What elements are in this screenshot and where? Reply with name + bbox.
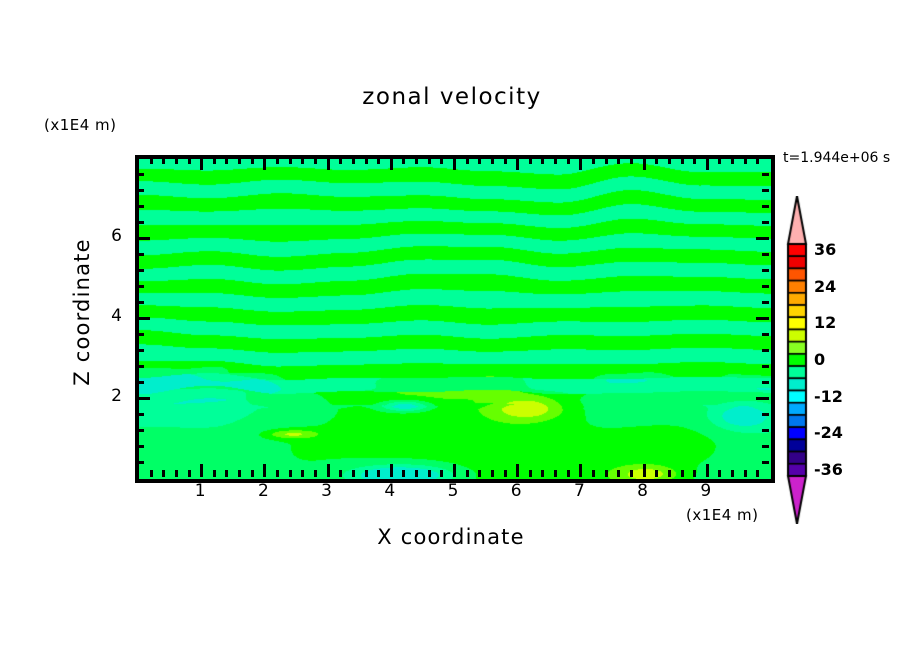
x-minor-tick [630, 470, 633, 477]
y-tick-label: 4 [96, 306, 122, 326]
x-major-tick [200, 464, 203, 477]
x-minor-tick-top [276, 157, 279, 164]
z-minor-tick-right [762, 301, 769, 304]
x-minor-tick-top [630, 157, 633, 164]
z-major-tick [137, 397, 150, 400]
z-minor-tick-right [762, 173, 769, 176]
x-minor-tick-top [605, 157, 608, 164]
x-minor-tick [339, 470, 342, 477]
x-minor-tick-top [188, 157, 191, 164]
y-axis-title: Z coordinate [70, 192, 94, 432]
x-minor-tick [554, 470, 557, 477]
x-minor-tick-top [251, 157, 254, 164]
x-axis-title: X coordinate [135, 525, 767, 549]
z-minor-tick [137, 205, 144, 208]
plot-area [135, 155, 775, 483]
x-tick-label: 5 [441, 481, 465, 501]
z-minor-tick-right [762, 253, 769, 256]
x-minor-tick [756, 470, 759, 477]
x-minor-tick [681, 470, 684, 477]
z-minor-tick-right [762, 349, 769, 352]
x-minor-tick [162, 470, 165, 477]
x-minor-tick [352, 470, 355, 477]
z-major-tick-right [756, 397, 769, 400]
z-minor-tick-right [762, 445, 769, 448]
x-minor-tick-top [238, 157, 241, 164]
x-minor-tick [175, 470, 178, 477]
colorbar-tick-label: -36 [814, 460, 843, 479]
x-major-tick [579, 464, 582, 477]
x-minor-tick-top [541, 157, 544, 164]
x-minor-tick [504, 470, 507, 477]
z-major-tick [137, 317, 150, 320]
z-minor-tick-right [762, 269, 769, 272]
z-major-tick-right [756, 237, 769, 240]
x-minor-tick [301, 470, 304, 477]
z-minor-tick-right [762, 221, 769, 224]
x-minor-tick [655, 470, 658, 477]
x-minor-tick-top [567, 157, 570, 164]
x-minor-tick [377, 470, 380, 477]
z-minor-tick-right [762, 413, 769, 416]
x-major-tick [453, 464, 456, 477]
x-major-tick-top [453, 157, 456, 170]
x-minor-tick-top [289, 157, 292, 164]
x-major-tick-top [516, 157, 519, 170]
x-minor-tick-top [592, 157, 595, 164]
x-major-tick-top [643, 157, 646, 170]
x-minor-tick-top [718, 157, 721, 164]
z-minor-tick [137, 333, 144, 336]
x-minor-tick [150, 470, 153, 477]
y-tick-label: 2 [96, 386, 122, 406]
x-minor-tick [225, 470, 228, 477]
x-tick-label: 1 [188, 481, 212, 501]
x-minor-tick-top [655, 157, 658, 164]
x-minor-tick-top [731, 157, 734, 164]
time-annotation: t=1.944e+06 s [783, 150, 890, 166]
x-minor-tick [440, 470, 443, 477]
x-tick-label: 7 [567, 481, 591, 501]
x-tick-label: 2 [251, 481, 275, 501]
z-minor-tick [137, 461, 144, 464]
x-minor-tick [289, 470, 292, 477]
colorbar-tick-label: 12 [814, 313, 836, 332]
figure-root: zonal velocity (x1E4 m) (x1E4 m) t=1.944… [0, 0, 904, 654]
x-minor-tick [402, 470, 405, 477]
colorbar [786, 196, 808, 524]
x-minor-tick-top [681, 157, 684, 164]
x-minor-tick [466, 470, 469, 477]
z-minor-tick-right [762, 429, 769, 432]
x-minor-tick-top [491, 157, 494, 164]
z-minor-tick [137, 429, 144, 432]
x-minor-tick [213, 470, 216, 477]
x-minor-tick [188, 470, 191, 477]
x-minor-tick-top [365, 157, 368, 164]
z-minor-tick [137, 445, 144, 448]
x-major-tick-top [200, 157, 203, 170]
page-title: zonal velocity [0, 84, 904, 110]
x-minor-tick [529, 470, 532, 477]
y-axis-units-label: (x1E4 m) [44, 116, 117, 134]
x-minor-tick-top [617, 157, 620, 164]
x-minor-tick-top [744, 157, 747, 164]
x-minor-tick-top [554, 157, 557, 164]
x-minor-tick-top [339, 157, 342, 164]
z-minor-tick-right [762, 189, 769, 192]
x-major-tick [706, 464, 709, 477]
x-minor-tick [428, 470, 431, 477]
z-minor-tick [137, 349, 144, 352]
z-minor-tick [137, 365, 144, 368]
x-major-tick [263, 464, 266, 477]
x-minor-tick-top [377, 157, 380, 164]
x-minor-tick-top [301, 157, 304, 164]
z-minor-tick [137, 381, 144, 384]
x-minor-tick-top [693, 157, 696, 164]
x-minor-tick [744, 470, 747, 477]
z-minor-tick [137, 269, 144, 272]
x-minor-tick-top [162, 157, 165, 164]
x-minor-tick [415, 470, 418, 477]
z-minor-tick-right [762, 365, 769, 368]
x-minor-tick-top [415, 157, 418, 164]
colorbar-tick-label: 36 [814, 240, 836, 259]
colorbar-tick-label: -12 [814, 387, 843, 406]
x-minor-tick-top [352, 157, 355, 164]
x-axis-units-label: (x1E4 m) [686, 506, 759, 524]
z-minor-tick-right [762, 461, 769, 464]
z-minor-tick [137, 301, 144, 304]
x-minor-tick [592, 470, 595, 477]
z-minor-tick-right [762, 333, 769, 336]
x-minor-tick-top [504, 157, 507, 164]
z-minor-tick [137, 221, 144, 224]
x-minor-tick [605, 470, 608, 477]
z-major-tick-right [756, 317, 769, 320]
x-minor-tick [491, 470, 494, 477]
z-minor-tick [137, 189, 144, 192]
x-minor-tick [693, 470, 696, 477]
colorbar-tick-label: 24 [814, 277, 836, 296]
x-major-tick [516, 464, 519, 477]
x-minor-tick-top [213, 157, 216, 164]
x-minor-tick-top [150, 157, 153, 164]
x-major-tick-top [327, 157, 330, 170]
x-minor-tick [617, 470, 620, 477]
x-minor-tick-top [428, 157, 431, 164]
z-minor-tick-right [762, 381, 769, 384]
x-major-tick-top [390, 157, 393, 170]
x-minor-tick-top [529, 157, 532, 164]
z-minor-tick [137, 253, 144, 256]
x-minor-tick-top [756, 157, 759, 164]
x-major-tick-top [263, 157, 266, 170]
colorbar-tick-label: -24 [814, 423, 843, 442]
z-minor-tick [137, 413, 144, 416]
x-minor-tick [314, 470, 317, 477]
x-major-tick-top [706, 157, 709, 170]
x-minor-tick [668, 470, 671, 477]
x-minor-tick [251, 470, 254, 477]
x-minor-tick-top [466, 157, 469, 164]
z-minor-tick [137, 285, 144, 288]
x-major-tick [327, 464, 330, 477]
x-minor-tick-top [440, 157, 443, 164]
x-major-tick [390, 464, 393, 477]
x-minor-tick [731, 470, 734, 477]
x-tick-label: 6 [504, 481, 528, 501]
x-major-tick-top [579, 157, 582, 170]
x-minor-tick-top [225, 157, 228, 164]
z-minor-tick-right [762, 285, 769, 288]
colorbar-tick-label: 0 [814, 350, 825, 369]
x-minor-tick [478, 470, 481, 477]
x-minor-tick-top [402, 157, 405, 164]
x-tick-label: 4 [378, 481, 402, 501]
x-major-tick [643, 464, 646, 477]
x-minor-tick-top [668, 157, 671, 164]
x-tick-label: 9 [694, 481, 718, 501]
contour-field [139, 159, 771, 479]
x-minor-tick [276, 470, 279, 477]
x-minor-tick [567, 470, 570, 477]
x-tick-label: 3 [315, 481, 339, 501]
x-minor-tick-top [175, 157, 178, 164]
x-tick-label: 8 [631, 481, 655, 501]
z-major-tick [137, 237, 150, 240]
x-minor-tick [541, 470, 544, 477]
y-tick-label: 6 [96, 226, 122, 246]
x-minor-tick-top [478, 157, 481, 164]
x-minor-tick [718, 470, 721, 477]
x-minor-tick [238, 470, 241, 477]
x-minor-tick-top [314, 157, 317, 164]
z-minor-tick [137, 173, 144, 176]
z-minor-tick-right [762, 205, 769, 208]
x-minor-tick [365, 470, 368, 477]
